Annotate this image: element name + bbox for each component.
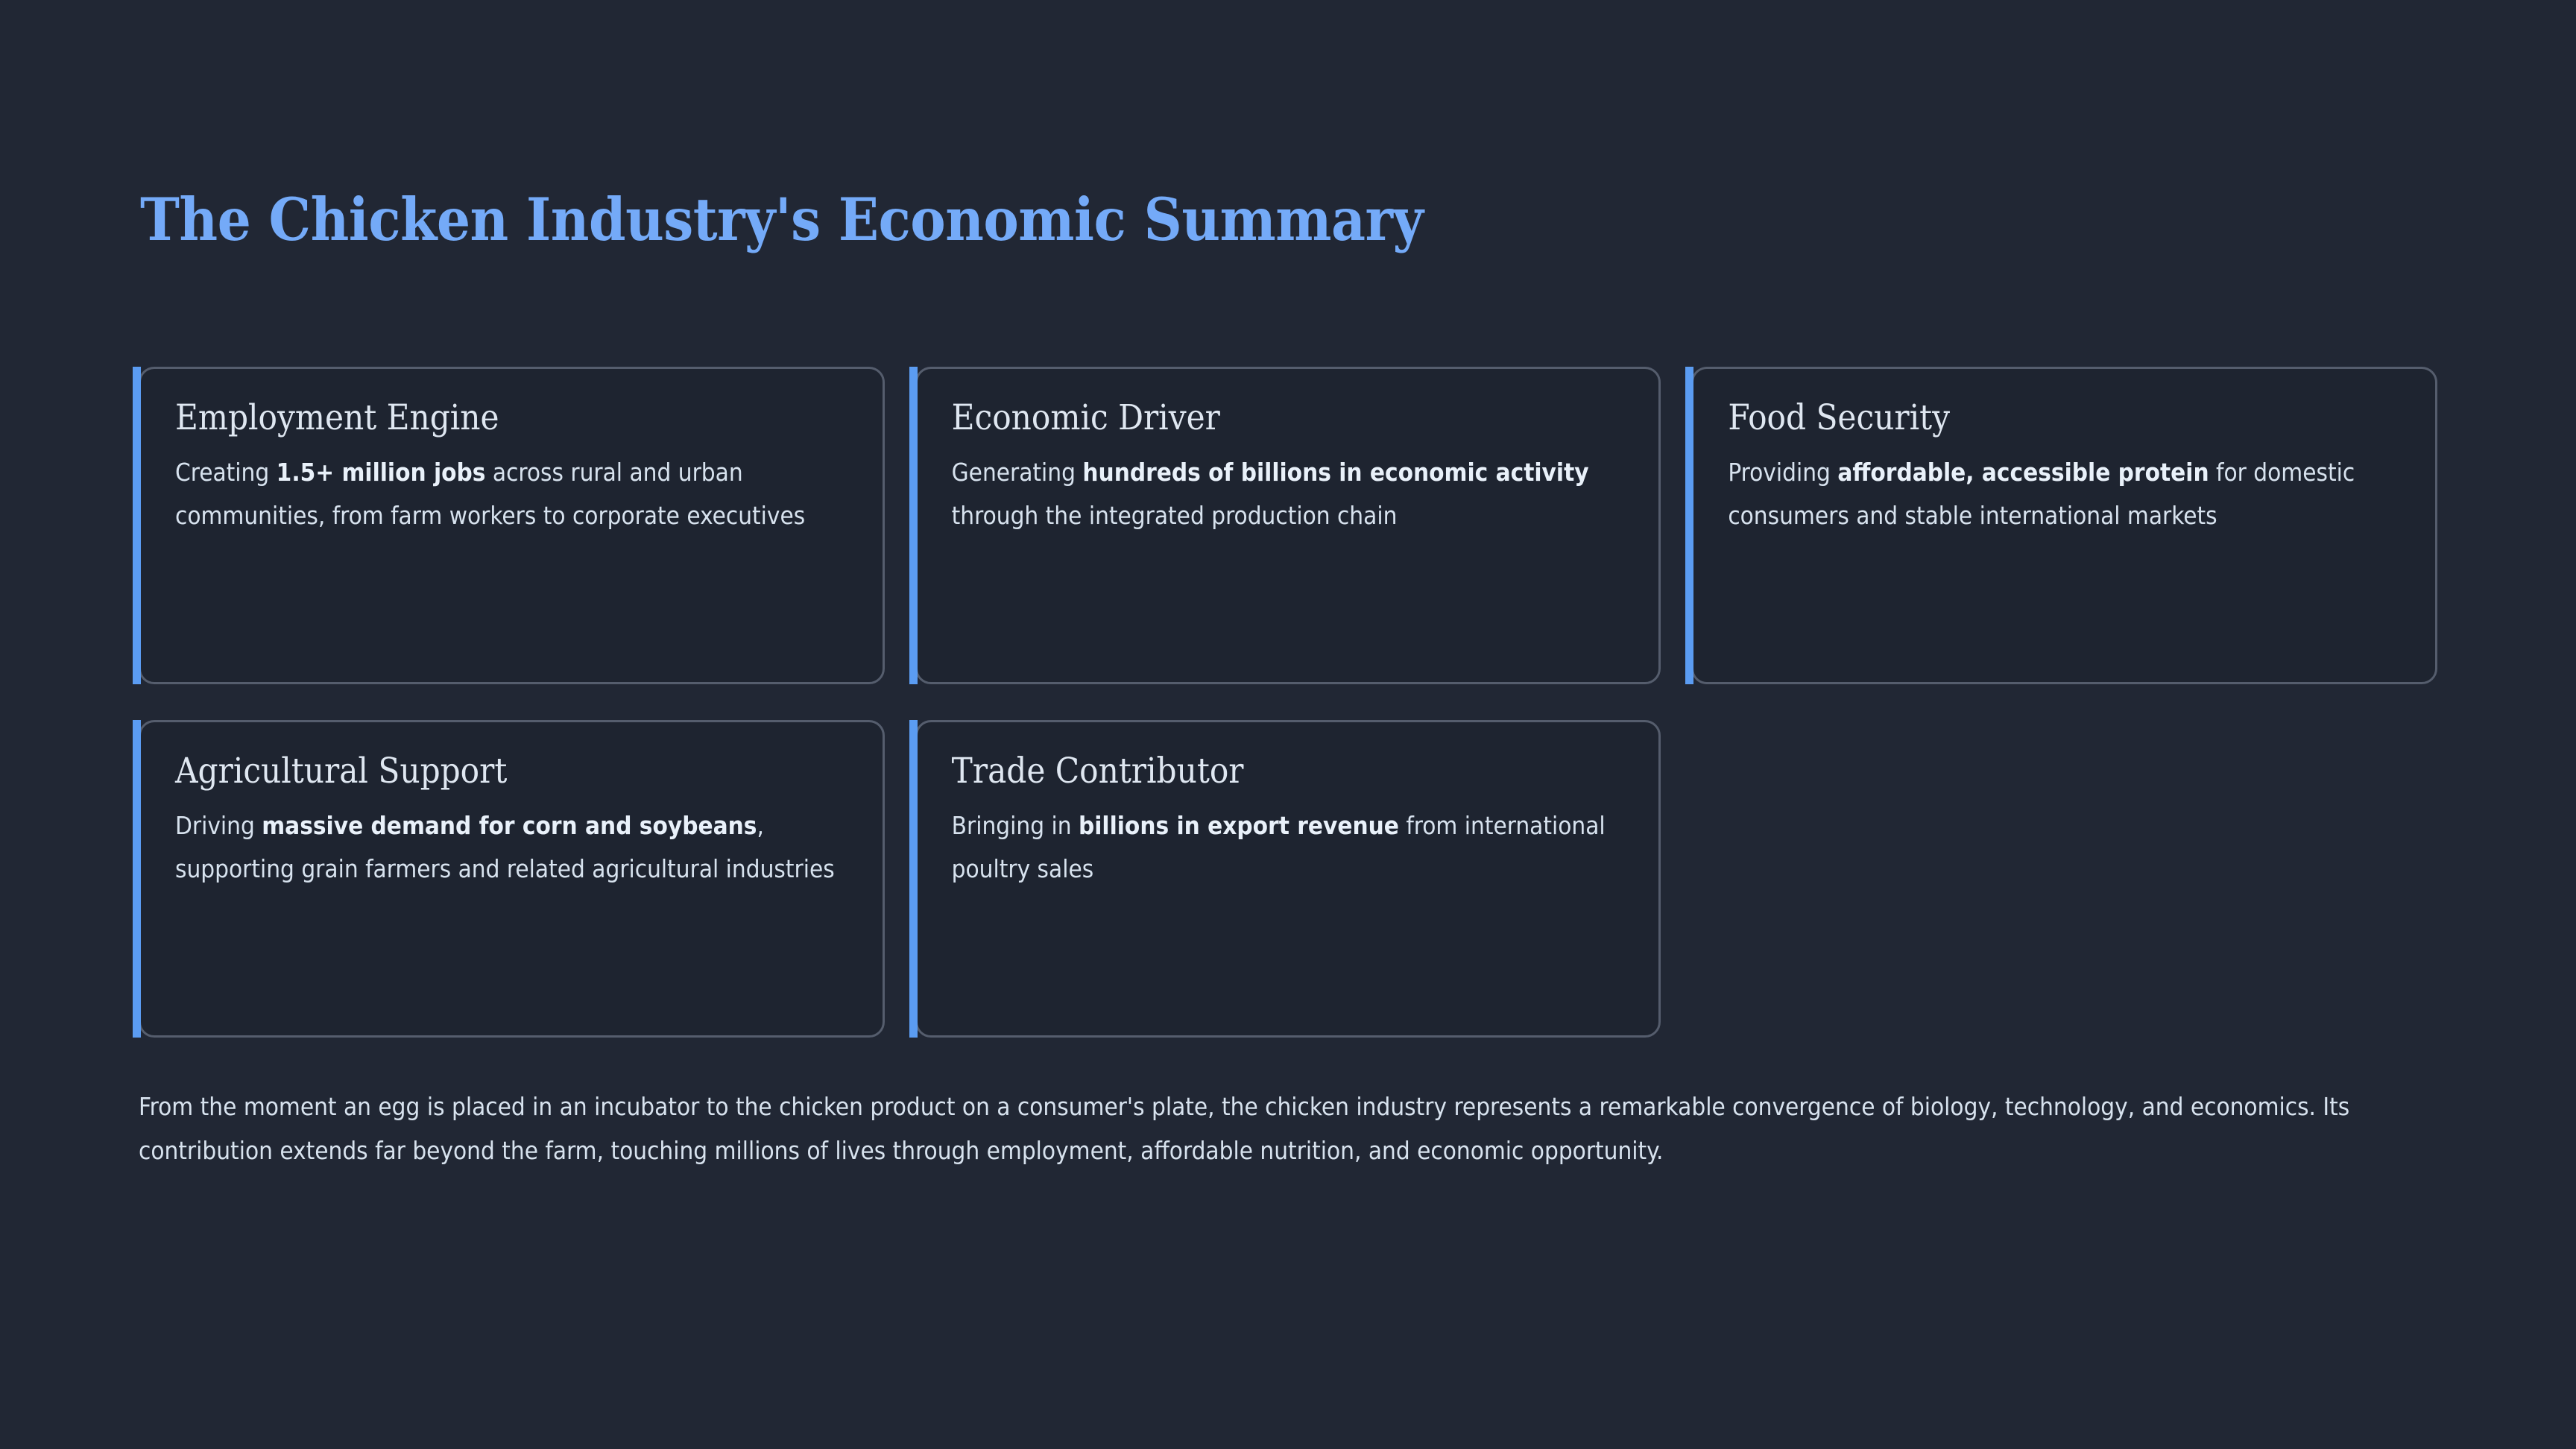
- card-body-emphasis: hundreds of billions in economic activit…: [1082, 458, 1588, 487]
- card-title: Agricultural Support: [175, 752, 848, 791]
- card-body-text: Creating: [175, 458, 277, 487]
- card-body: Providing affordable, accessible protein…: [1728, 451, 2401, 538]
- card-accent-bar: [909, 720, 918, 1038]
- page-title: The Chicken Industry's Economic Summary: [140, 190, 1423, 249]
- card-title: Employment Engine: [175, 399, 848, 438]
- card-body-text: Bringing in: [952, 811, 1079, 840]
- card-accent-bar: [133, 720, 141, 1038]
- card-body-text: Providing: [1728, 458, 1837, 487]
- card-title: Trade Contributor: [952, 752, 1625, 791]
- summary-card[interactable]: Economic DriverGenerating hundreds of bi…: [915, 367, 1661, 684]
- card-title: Food Security: [1728, 399, 2401, 438]
- footer-summary-paragraph: From the moment an egg is placed in an i…: [139, 1085, 2442, 1172]
- card-body-emphasis: massive demand for corn and soybeans: [262, 811, 757, 840]
- card-body-emphasis: billions in export revenue: [1079, 811, 1399, 840]
- card-body: Creating 1.5+ million jobs across rural …: [175, 451, 848, 538]
- summary-cards-grid: Employment EngineCreating 1.5+ million j…: [139, 367, 2437, 1038]
- card-accent-bar: [133, 367, 141, 684]
- card-body: Driving massive demand for corn and soyb…: [175, 804, 848, 891]
- card-body-text: Generating: [952, 458, 1083, 487]
- card-body-text: through the integrated production chain: [952, 501, 1398, 530]
- card-body-text: Driving: [175, 811, 262, 840]
- card-body-emphasis: 1.5+ million jobs: [277, 458, 486, 487]
- card-accent-bar: [1685, 367, 1693, 684]
- summary-card[interactable]: Agricultural SupportDriving massive dema…: [139, 720, 885, 1038]
- summary-card[interactable]: Employment EngineCreating 1.5+ million j…: [139, 367, 885, 684]
- card-body-emphasis: affordable, accessible protein: [1837, 458, 2209, 487]
- page-root: The Chicken Industry's Economic Summary …: [0, 0, 2576, 1449]
- summary-card[interactable]: Trade ContributorBringing in billions in…: [915, 720, 1661, 1038]
- summary-card[interactable]: Food SecurityProviding affordable, acces…: [1691, 367, 2437, 684]
- card-title: Economic Driver: [952, 399, 1625, 438]
- card-body: Bringing in billions in export revenue f…: [952, 804, 1625, 891]
- card-accent-bar: [909, 367, 918, 684]
- card-body: Generating hundreds of billions in econo…: [952, 451, 1625, 538]
